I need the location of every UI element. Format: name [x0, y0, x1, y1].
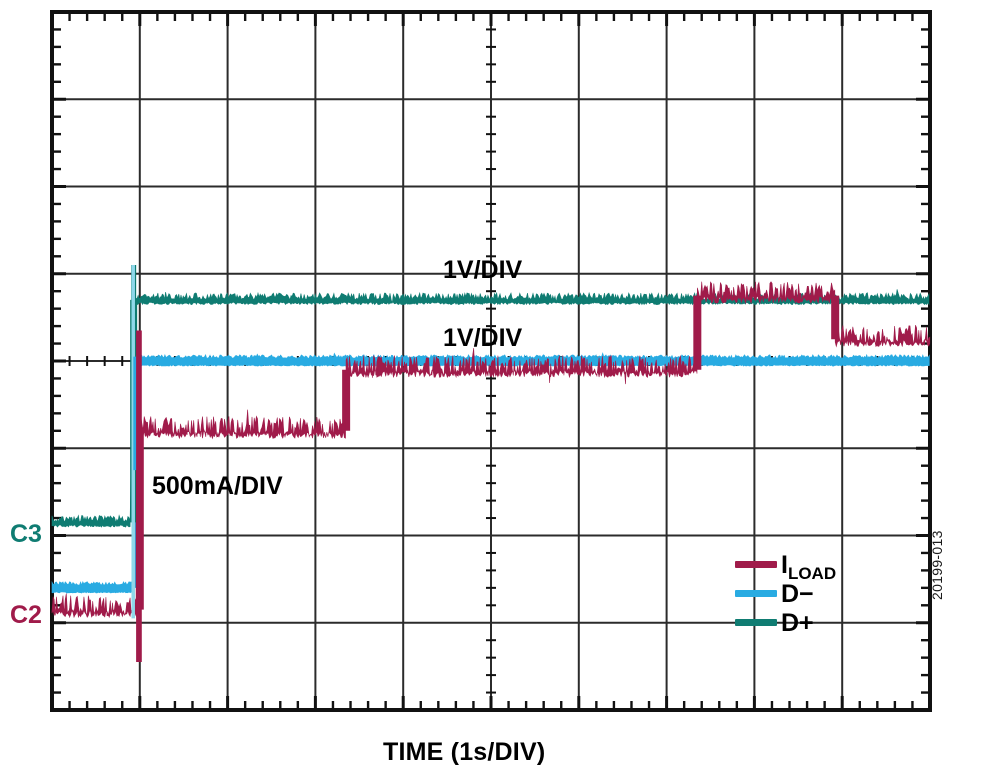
legend-swatch-dplus [735, 619, 777, 626]
channel-marker-c3: C3 [10, 522, 42, 547]
legend-label-dplus: D+ [781, 609, 814, 638]
legend-swatch-iload [735, 561, 777, 568]
annotation-dplus-scale: 1V/DIV [443, 258, 522, 283]
oscilloscope-plot [0, 0, 990, 779]
legend-label-iload-main: I [781, 551, 788, 579]
legend-label-dminus: D− [781, 580, 814, 609]
channel-marker-c2: C2 [10, 603, 42, 628]
x-axis-label: TIME (1s/DIV) [383, 740, 545, 765]
oscilloscope-figure: 1V/DIV 1V/DIV 500mA/DIV C3 C2 TIME (1s/D… [0, 0, 990, 779]
annotation-iload-scale: 500mA/DIV [152, 474, 283, 499]
document-number: 20199-013 [930, 530, 944, 600]
legend-swatch-dminus [735, 590, 777, 597]
annotation-dminus-scale: 1V/DIV [443, 326, 522, 351]
